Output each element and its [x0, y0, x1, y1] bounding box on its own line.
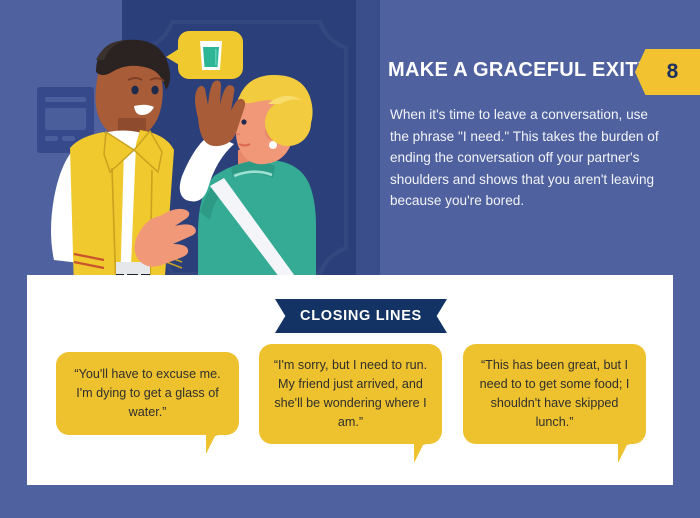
closing-lines-ribbon: CLOSING LINES [275, 299, 447, 333]
headline-row: MAKE A GRACEFUL EXIT16 8 [388, 55, 700, 89]
step-number-badge: 8 [635, 49, 700, 95]
closing-line-bubble-3: “This has been great, but I need to to g… [463, 344, 646, 444]
closing-line-bubble-2: “I'm sorry, but I need to run. My friend… [259, 344, 442, 444]
body-paragraph: When it's time to leave a conversation, … [390, 104, 660, 212]
page-title: MAKE A GRACEFUL EXIT16 [388, 55, 651, 85]
speech-bubble-tail [206, 433, 226, 454]
speech-bubble-tail [414, 442, 434, 463]
closing-line-text: “This has been great, but I need to to g… [475, 356, 634, 432]
closing-lines-card: CLOSING LINES “You'll have to excuse me.… [27, 275, 673, 485]
two-people-conversation-illustration [0, 0, 380, 290]
closing-line-bubble-1: “You'll have to excuse me. I'm dying to … [56, 352, 239, 435]
infographic-panel: MAKE A GRACEFUL EXIT16 8 When it's time … [0, 0, 700, 518]
closing-line-text: “You'll have to excuse me. I'm dying to … [68, 365, 227, 422]
water-glass-icon [200, 41, 222, 70]
ribbon-label: CLOSING LINES [275, 299, 447, 333]
step-number: 8 [635, 49, 700, 95]
speech-bubble-tail [618, 442, 638, 463]
closing-line-text: “I'm sorry, but I need to run. My friend… [271, 356, 430, 432]
closing-lines-list: “You'll have to excuse me. I'm dying to … [27, 344, 673, 469]
page-title-text: MAKE A GRACEFUL EXIT [388, 59, 638, 81]
